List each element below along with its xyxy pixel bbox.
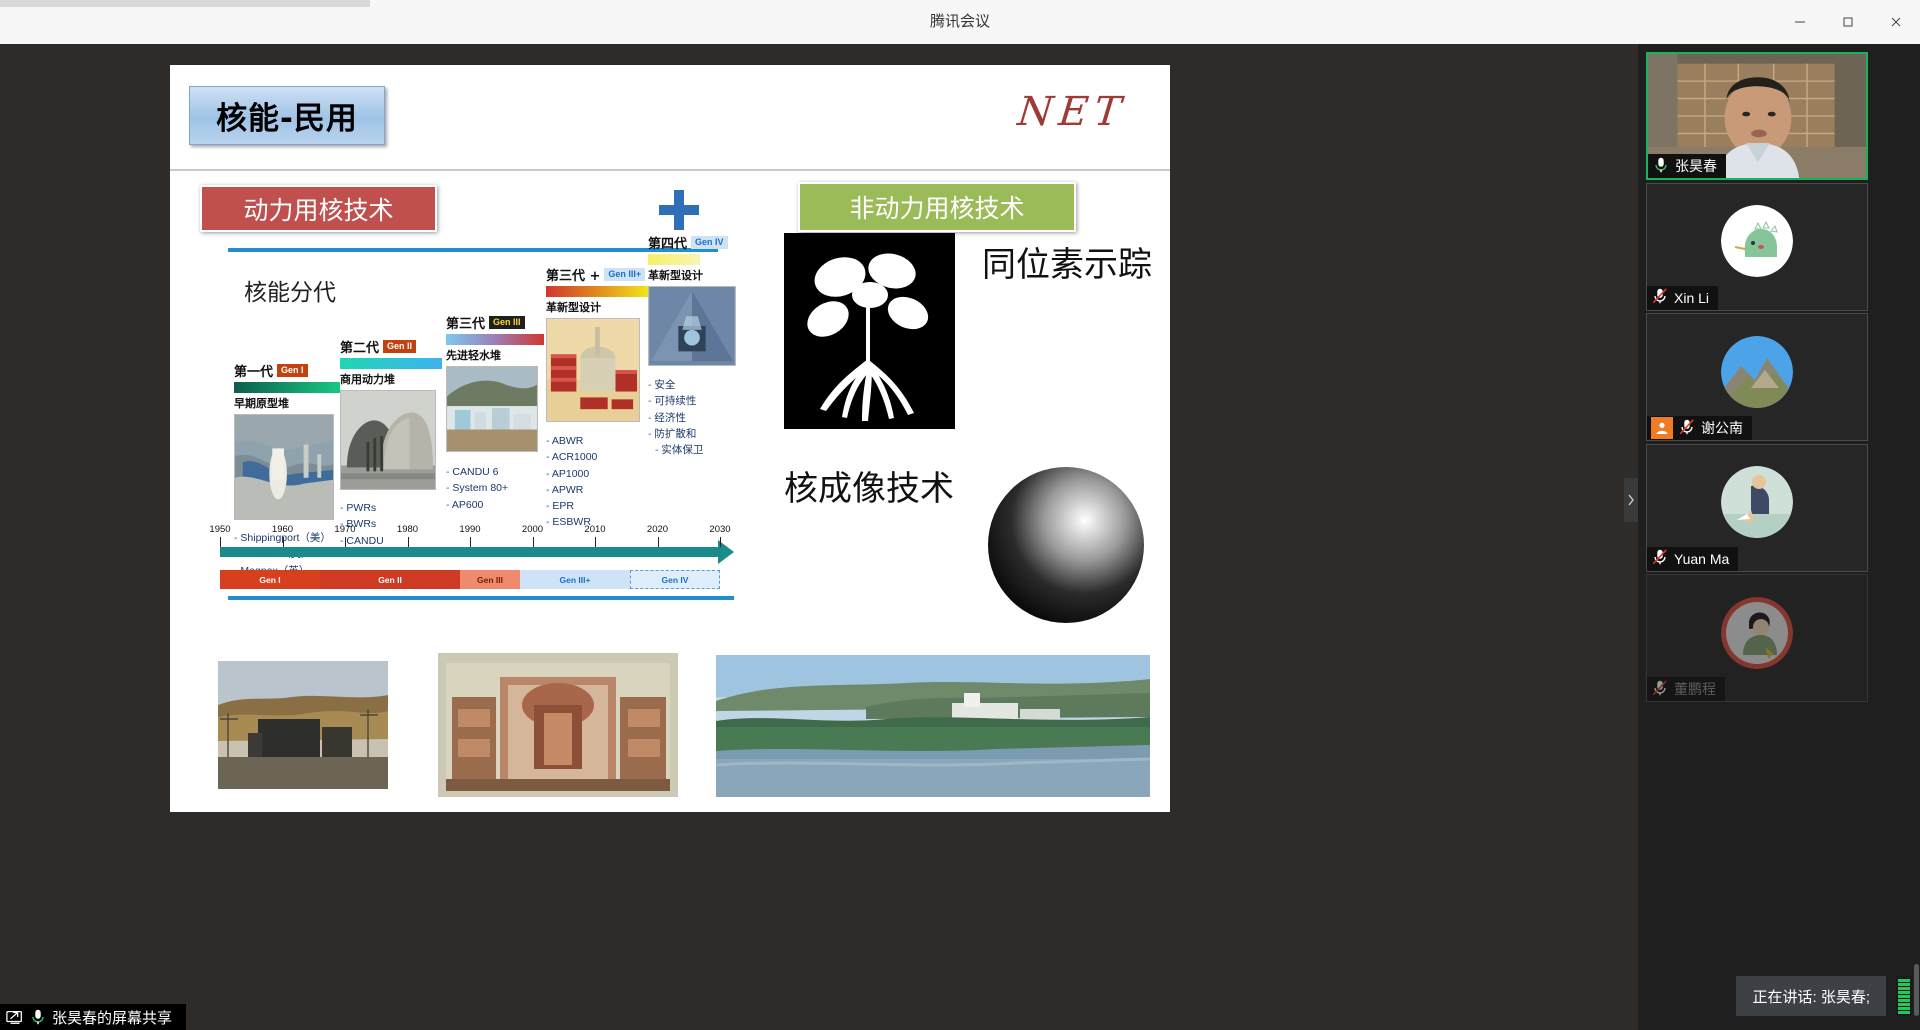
- presentation-slide: 核能-民用 NET 动力用核技术 非动力用核技术 核能分代 第一代 Gen I: [170, 65, 1170, 812]
- participant-tile[interactable]: 谢公南: [1646, 313, 1868, 441]
- timeline-segment: Gen II: [320, 570, 460, 589]
- timeline-segment: Gen III: [460, 570, 520, 589]
- generation-bar-5: [648, 254, 700, 265]
- list-item: ACR1000: [546, 449, 648, 465]
- generation-column-2: 第二代 Gen II 商用动力堆 PWRs: [340, 337, 442, 549]
- bottom-photo-2: [438, 653, 678, 797]
- collapse-panel-button[interactable]: [1624, 478, 1638, 522]
- generation-subtitle-3: 先进轻水堆: [446, 347, 544, 363]
- participant-name-bar: Xin Li: [1647, 286, 1718, 310]
- timeline-year: 2030: [709, 524, 730, 535]
- bottom-photo-3: [716, 655, 1150, 797]
- nuclear-imaging-sphere: [986, 465, 1146, 625]
- window-controls: [1776, 0, 1920, 44]
- timeline-segment: Gen III+: [520, 570, 630, 589]
- timeline-year: 2020: [647, 524, 668, 535]
- header-nonpower-nuclear: 非动力用核技术: [798, 182, 1076, 232]
- generation-header-5: 第四代 Gen IV: [648, 233, 748, 252]
- root-scan-graphic: [784, 233, 955, 429]
- timeline-axis: [220, 547, 720, 557]
- minimize-icon: [1794, 16, 1806, 28]
- list-item: 可持续性: [648, 393, 748, 409]
- shared-screen-stage: 核能-民用 NET 动力用核技术 非动力用核技术 核能分代 第一代 Gen I: [0, 44, 1638, 1030]
- window-title: 腾讯会议: [0, 0, 1920, 44]
- generation-bar-3: [446, 334, 544, 345]
- timeline-tick: [470, 537, 471, 547]
- participant-name-bar: Yuan Ma: [1647, 547, 1738, 571]
- generation-subtitle-4: 革新型设计: [546, 299, 648, 315]
- generation-header-1: 第一代 Gen I: [234, 361, 340, 380]
- timeline-year: 1970: [334, 524, 355, 535]
- close-icon: [1890, 16, 1902, 28]
- participant-name-bar: 谢公南: [1647, 416, 1752, 440]
- window-titlebar: 腾讯会议: [0, 0, 1920, 44]
- list-item: PWRs: [340, 500, 442, 516]
- meter-bar: [1898, 1007, 1910, 1010]
- timeline-tick: [345, 537, 346, 547]
- list-item: 实体保卫: [648, 442, 748, 458]
- audio-level-meter: [1896, 976, 1912, 1016]
- generation-bar-4: [546, 286, 648, 297]
- generation-tag-5: Gen IV: [691, 236, 728, 249]
- meter-bar: [1898, 979, 1910, 982]
- participant-name: Xin Li: [1674, 290, 1709, 306]
- generation-subtitle-2: 商用动力堆: [340, 371, 442, 387]
- meter-bar: [1898, 991, 1910, 994]
- generation-list-4: ABWR ACR1000 AP1000 APWR EPR ESBWR: [546, 433, 648, 531]
- isotope-tracing-label: 同位素示踪: [982, 237, 1152, 286]
- list-item: 经济性: [648, 410, 748, 426]
- participant-name-bar: 董鹏程: [1647, 677, 1725, 701]
- panel-scrollbar[interactable]: [1914, 964, 1919, 1016]
- net-logo: NET: [1016, 89, 1130, 135]
- divider-top: [228, 248, 718, 252]
- microphone-icon: [1652, 156, 1670, 177]
- generation-cn-5: 第四代: [648, 233, 687, 252]
- timeline-tick: [720, 537, 721, 547]
- list-item: System 80+: [446, 480, 544, 496]
- participant-panel: 张昊春Xin Li谢公南Yuan Ma董鹏程 正在讲话: 张昊春;: [1638, 44, 1920, 1030]
- generation-column-4: 第三代 + Gen III+ 革新型设计: [546, 265, 648, 531]
- timeline-segments: Gen IGen IIGen IIIGen III+Gen IV: [220, 570, 720, 589]
- slide-title: 核能-民用: [216, 93, 358, 138]
- generation-column-3: 第三代 Gen III 先进轻水堆 CANDU 6: [446, 313, 544, 513]
- timeline-segment: Gen IV: [630, 570, 720, 589]
- minimize-button[interactable]: [1776, 0, 1824, 44]
- imaging-sphere-graphic: [986, 465, 1146, 625]
- list-item: AP1000: [546, 466, 648, 482]
- avatar: [1721, 466, 1793, 538]
- generation-photo-3: [446, 366, 538, 452]
- timeline-tick: [408, 537, 409, 547]
- plus-icon: [656, 187, 702, 233]
- participant-name: Yuan Ma: [1674, 551, 1729, 567]
- microphone-muted-icon: [1651, 548, 1669, 569]
- generation-tag-1: Gen I: [277, 364, 308, 377]
- maximize-button[interactable]: [1824, 0, 1872, 44]
- host-badge-icon: [1651, 417, 1673, 439]
- participant-tile[interactable]: 董鹏程: [1646, 574, 1868, 702]
- list-item: CANDU 6: [446, 464, 544, 480]
- meter-bar: [1898, 999, 1910, 1002]
- timeline-segment: Gen I: [220, 570, 320, 589]
- generation-tag-2: Gen II: [383, 340, 416, 353]
- generation-cn-2: 第二代: [340, 337, 379, 356]
- timeline-year: 2000: [522, 524, 543, 535]
- screen-share-label: 张昊春的屏幕共享: [52, 1007, 172, 1028]
- list-item: EPR: [546, 498, 648, 514]
- generation-subtitle-1: 早期原型堆: [234, 395, 340, 411]
- avatar: [1721, 336, 1793, 408]
- root-scan-image: [784, 233, 955, 429]
- timeline-year: 1960: [272, 524, 293, 535]
- title-divider: [170, 169, 1170, 171]
- speaking-status: 正在讲话: 张昊春;: [1736, 976, 1886, 1016]
- meter-bar: [1898, 983, 1910, 986]
- timeline-year: 1990: [459, 524, 480, 535]
- generation-subtitle-5: 革新型设计: [648, 267, 748, 283]
- meter-bar: [1898, 1003, 1910, 1006]
- microphone-icon: [29, 1008, 47, 1026]
- chevron-right-icon: [1627, 494, 1635, 506]
- close-button[interactable]: [1872, 0, 1920, 44]
- generation-tag-4: Gen III+: [604, 268, 645, 281]
- screen-share-indicator: 张昊春的屏幕共享: [0, 1004, 186, 1030]
- participant-name-bar: 张昊春: [1648, 154, 1726, 178]
- generation-photo-1: [234, 414, 334, 520]
- shared-screen-content: 核能-民用 NET 动力用核技术 非动力用核技术 核能分代 第一代 Gen I: [0, 44, 1638, 1006]
- timeline-tick: [283, 537, 284, 547]
- meter-bar: [1898, 1011, 1910, 1014]
- generation-list-5: 安全 可持续性 经济性 防扩散和 实体保卫: [648, 377, 748, 458]
- microphone-muted-icon: [1651, 679, 1669, 700]
- generation-timeline: 195019601970198019902000201020202030 Gen…: [220, 528, 740, 598]
- participant-tile[interactable]: 张昊春: [1646, 52, 1868, 180]
- timeline-year: 2010: [584, 524, 605, 535]
- timeline-tick: [595, 537, 596, 547]
- timeline-year: 1980: [397, 524, 418, 535]
- generation-cn-3: 第三代: [446, 313, 485, 332]
- generation-cn-1: 第一代: [234, 361, 273, 380]
- list-item: 安全: [648, 377, 748, 393]
- nuclear-imaging-label: 核成像技术: [784, 461, 954, 510]
- generation-photo-5: [648, 286, 736, 366]
- generation-column-5: 第四代 Gen IV 革新型设计 安全 可持续性 经济性 防扩: [648, 233, 748, 458]
- generation-bar-2: [340, 358, 442, 369]
- screen-share-icon: [6, 1008, 24, 1026]
- speaking-label: 正在讲话: 张昊春;: [1752, 986, 1870, 1007]
- generation-photo-4: [546, 318, 640, 422]
- participant-tile[interactable]: Yuan Ma: [1646, 444, 1868, 572]
- maximize-icon: [1842, 16, 1854, 28]
- meter-bar: [1898, 995, 1910, 998]
- section-label: 核能分代: [244, 273, 336, 307]
- microphone-muted-icon: [1678, 418, 1696, 439]
- list-item: ABWR: [546, 433, 648, 449]
- list-item: APWR: [546, 482, 648, 498]
- generation-photo-2: [340, 390, 436, 490]
- avatar: [1721, 597, 1793, 669]
- generation-header-2: 第二代 Gen II: [340, 337, 442, 356]
- generation-header-3: 第三代 Gen III: [446, 313, 544, 332]
- timeline-tick: [658, 537, 659, 547]
- participant-name: 谢公南: [1701, 418, 1743, 438]
- avatar: [1721, 205, 1793, 277]
- timeline-year: 1950: [209, 524, 230, 535]
- timeline-tick: [220, 537, 221, 547]
- participant-name: 张昊春: [1675, 156, 1717, 176]
- timeline-tick: [533, 537, 534, 547]
- header-power-nuclear-label: 动力用核技术: [243, 191, 393, 227]
- list-item: AP600: [446, 497, 544, 513]
- header-nonpower-nuclear-label: 非动力用核技术: [849, 189, 1024, 225]
- participant-name: 董鹏程: [1674, 679, 1716, 699]
- generation-list-3: CANDU 6 System 80+ AP600: [446, 464, 544, 513]
- slide-title-box: 核能-民用: [189, 86, 385, 145]
- meter-bar: [1898, 987, 1910, 990]
- bottom-photo-1: [218, 661, 388, 789]
- header-power-nuclear: 动力用核技术: [200, 185, 437, 232]
- generation-cn-4: 第三代 +: [546, 265, 600, 284]
- generation-tag-3: Gen III: [489, 316, 525, 329]
- generation-bar-1: [234, 382, 340, 393]
- microphone-muted-icon: [1651, 287, 1669, 308]
- list-item: 防扩散和: [648, 426, 748, 442]
- participant-tile[interactable]: Xin Li: [1646, 183, 1868, 311]
- generation-header-4: 第三代 + Gen III+: [546, 265, 648, 284]
